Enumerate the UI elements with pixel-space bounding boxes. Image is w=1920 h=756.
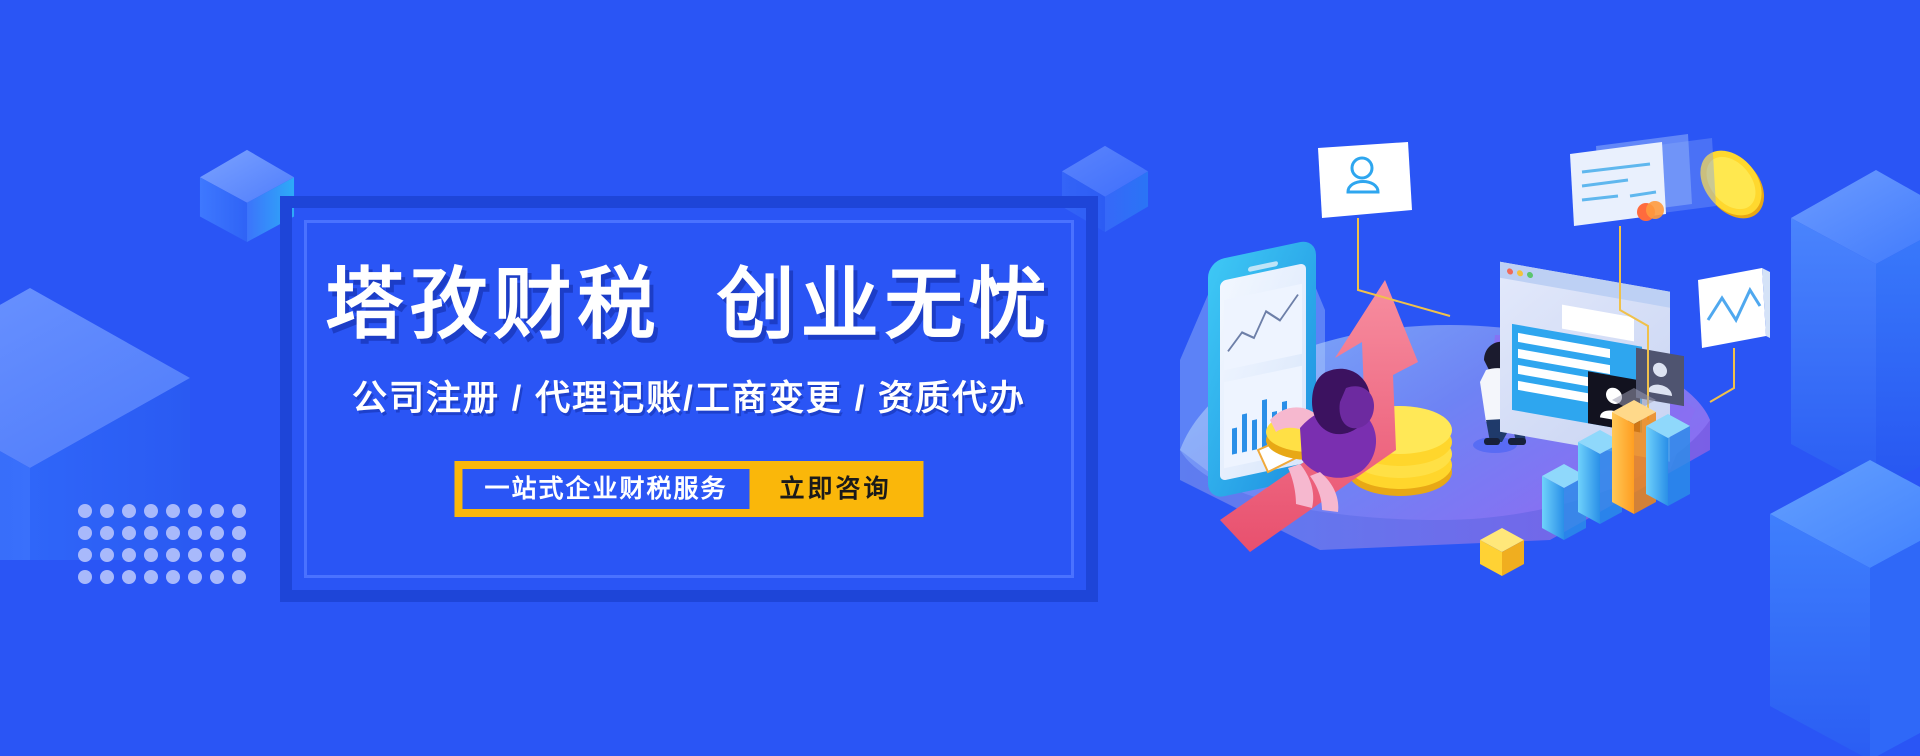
text-frame: 塔孜财税 创业无忧 公司注册 / 代理记账/工商变更 / 资质代办 一站式企业财… <box>280 196 1098 602</box>
isometric-fintech-illustration <box>1150 120 1770 640</box>
floating-line-chart-card <box>1698 268 1770 402</box>
promo-banner: 塔孜财税 创业无忧 公司注册 / 代理记账/工商变更 / 资质代办 一站式企业财… <box>0 0 1920 756</box>
text-frame-inner: 塔孜财税 创业无忧 公司注册 / 代理记账/工商变更 / 资质代办 一站式企业财… <box>304 220 1074 578</box>
cta-bar[interactable]: 一站式企业财税服务 立即咨询 <box>454 461 923 517</box>
pillar-right-bottom-icon <box>1770 460 1920 756</box>
page-title: 塔孜财税 创业无忧 <box>307 265 1071 343</box>
cube-lower-left-icon <box>0 230 260 560</box>
pillar-right-icon <box>1791 160 1920 490</box>
consult-now-button[interactable]: 立即咨询 <box>750 469 916 509</box>
service-list-subtitle: 公司注册 / 代理记账/工商变更 / 资质代办 <box>307 381 1071 416</box>
dot-grid-decoration <box>74 500 250 588</box>
cta-tagline: 一站式企业财税服务 <box>462 469 749 509</box>
